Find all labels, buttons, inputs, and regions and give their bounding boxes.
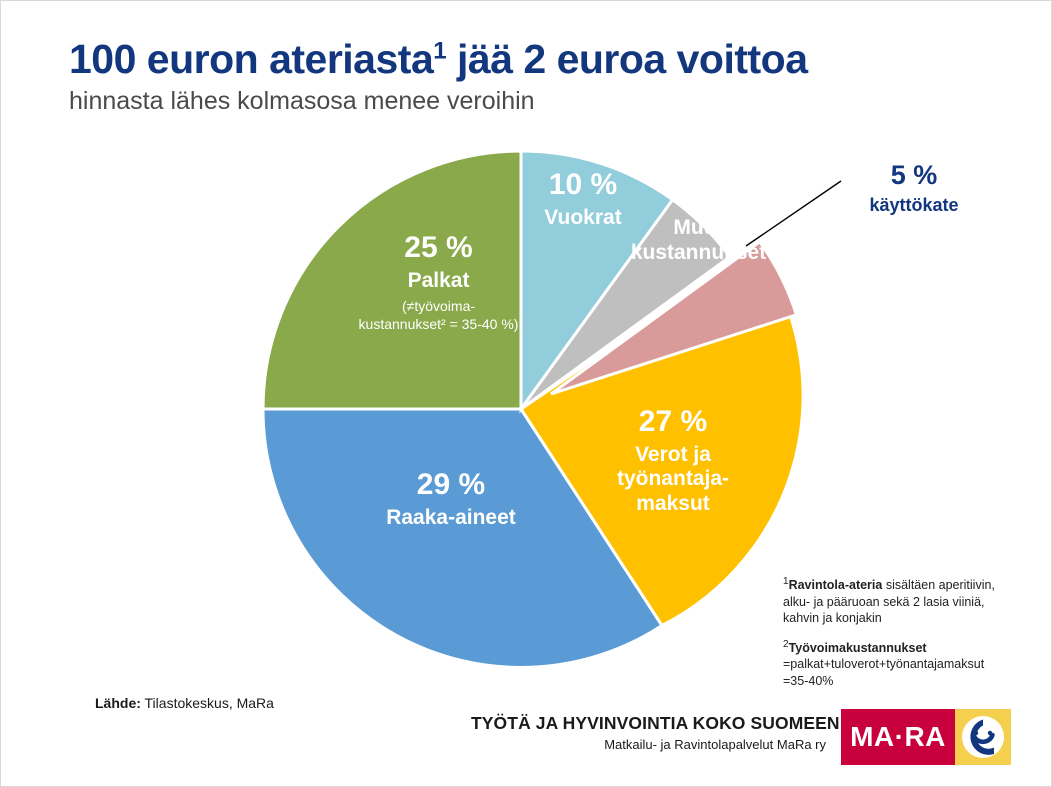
footnote-2-lead: Työvoimakustannukset xyxy=(789,641,927,655)
footnote-1: 1Ravintola-ateria sisältäen aperitiivin,… xyxy=(783,575,1045,627)
pie-slice-palkat[interactable] xyxy=(263,151,521,409)
mara-logo: MA·RA xyxy=(841,709,1011,765)
callout-percent: 5 % xyxy=(819,159,1009,191)
source-value: Tilastokeskus, MaRa xyxy=(141,695,274,711)
source-label: Lähde: xyxy=(95,695,141,711)
title-rest-text: jää 2 euroa voittoa xyxy=(446,36,807,82)
page-subtitle: hinnasta lähes kolmasosa menee veroihin xyxy=(69,87,1019,116)
footer-brand: TYÖTÄ JA HYVINVOINTIA KOKO SUOMEEN Matka… xyxy=(471,709,1031,767)
footnote-1-line3: kahvin ja konjakin xyxy=(783,611,882,625)
title-main-text: 100 euron ateriasta xyxy=(69,36,433,82)
footnote-2-line2: =palkat+tuloverot+työnantajamaksut xyxy=(783,657,984,671)
slide-canvas: 100 euron ateriasta1 jää 2 euroa voittoa… xyxy=(0,0,1052,787)
footnote-2-line3: =35-40% xyxy=(783,674,833,688)
title-footnote-marker: 1 xyxy=(433,37,446,64)
mara-logo-text: MA·RA xyxy=(850,721,946,753)
footer-tagline-sub: Matkailu- ja Ravintolapalvelut MaRa ry xyxy=(471,737,826,752)
callout-label: käyttökate xyxy=(819,195,1009,217)
footnote-2: 2Työvoimakustannukset =palkat+tuloverot+… xyxy=(783,638,1045,690)
footer-tagline: TYÖTÄ JA HYVINVOINTIA KOKO SUOMEEN xyxy=(471,713,826,734)
footnote-1-line2: alku- ja pääruoan sekä 2 lasia viiniä, xyxy=(783,595,985,609)
header: 100 euron ateriasta1 jää 2 euroa voittoa… xyxy=(69,37,1019,116)
smiley-circle-icon xyxy=(960,714,1006,760)
pie-slices xyxy=(263,151,803,667)
page-title: 100 euron ateriasta1 jää 2 euroa voittoa xyxy=(69,37,1019,81)
footnotes: 1Ravintola-ateria sisältäen aperitiivin,… xyxy=(783,575,1045,689)
mara-logo-symbol-box xyxy=(955,709,1011,765)
footnote-1-line1: sisältäen aperitiivin, xyxy=(882,578,995,592)
pie-chart-svg xyxy=(191,121,871,701)
callout-kayttokate: 5 % käyttökate xyxy=(819,159,1009,217)
source-note: Lähde: Tilastokeskus, MaRa xyxy=(95,695,274,711)
mara-logo-wordmark: MA·RA xyxy=(841,709,955,765)
footnote-1-lead: Ravintola-ateria xyxy=(789,578,883,592)
